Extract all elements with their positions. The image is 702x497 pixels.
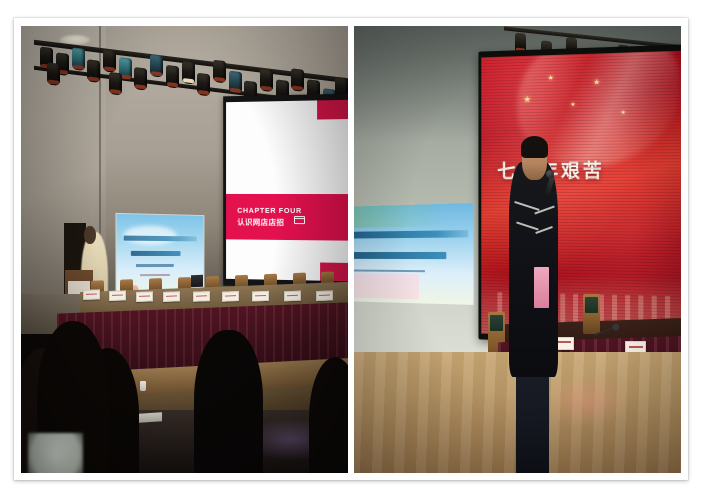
banner-subtitle-line <box>136 264 173 267</box>
name-card <box>163 292 180 303</box>
star-icon: ★ <box>570 103 575 109</box>
spotlight-icon <box>47 63 60 87</box>
banner-organizer-line <box>140 274 170 276</box>
name-card <box>251 291 268 302</box>
name-card <box>192 292 209 303</box>
spotlight-icon <box>291 68 304 92</box>
banner-title-line-1 <box>124 236 197 242</box>
spotlight-icon <box>109 72 122 96</box>
banner-title-line-1 <box>354 230 468 238</box>
floor-reflection <box>544 375 629 429</box>
name-card <box>316 291 333 302</box>
spotlight-icon <box>166 65 179 89</box>
name-card <box>136 292 153 303</box>
left-photo-auditorium[interactable]: CHAPTER FOUR 认识网店店招 <box>21 26 348 473</box>
banner-cloud-graphic <box>124 225 177 245</box>
slide-title-band: CHAPTER FOUR 认识网店店招 <box>226 194 348 241</box>
spotlight-icon <box>260 69 273 93</box>
spotlight-icon <box>213 60 226 84</box>
star-icon: ★ <box>593 79 600 87</box>
storefront-icon <box>294 216 305 224</box>
spotlight-icon <box>150 54 163 78</box>
name-card <box>83 290 100 301</box>
star-icon: ★ <box>620 110 625 116</box>
photo-collage: CHAPTER FOUR 认识网店店招 <box>0 0 702 497</box>
spotlight-icon <box>87 60 100 84</box>
banner-title-line-2 <box>131 250 180 255</box>
banner-title-line-2 <box>354 252 446 259</box>
slide-chapter-cn: 认识网店店招 <box>237 218 284 227</box>
spotlight-icon <box>229 71 242 95</box>
banner-lower-panel <box>354 273 419 300</box>
open-booklet <box>139 412 162 423</box>
photo-row: CHAPTER FOUR 认识网店店招 <box>21 26 681 473</box>
spotlight-icon <box>182 61 195 85</box>
chair <box>583 294 600 334</box>
speaker-badge <box>534 267 549 307</box>
chair-back-cushion <box>490 315 503 331</box>
banner-subtitle-line <box>354 269 425 272</box>
audience-member <box>194 330 263 473</box>
star-icon: ★ <box>523 95 531 104</box>
ppt-slide: CHAPTER FOUR 认识网店店招 <box>226 100 348 281</box>
star-icon: ★ <box>548 75 554 82</box>
microphone-head <box>546 170 554 178</box>
name-card <box>284 291 301 302</box>
spotlight-icon <box>197 74 210 98</box>
right-photo-led-stage[interactable]: ★ ★ ★ ★ ★ 七十年艰苦 <box>354 26 681 473</box>
paper-cup <box>140 381 146 391</box>
white-scarf <box>28 433 84 473</box>
name-card <box>222 292 239 303</box>
name-card <box>109 291 126 302</box>
event-banner <box>354 203 473 305</box>
presenter-head <box>84 226 95 244</box>
spotlight-icon <box>103 50 116 74</box>
banner-green-wash <box>354 203 473 228</box>
spotlight-icon <box>72 48 85 72</box>
projection-screen[interactable]: CHAPTER FOUR 认识网店店招 <box>223 94 348 289</box>
spotlight-icon <box>135 67 148 91</box>
laptop-on-table <box>191 274 203 286</box>
slide-accent-top-right <box>317 100 348 120</box>
chair-back-cushion <box>585 297 598 313</box>
slide-chapter-cn-row: 认识网店店招 <box>237 216 348 228</box>
speaker-hair <box>521 136 548 158</box>
